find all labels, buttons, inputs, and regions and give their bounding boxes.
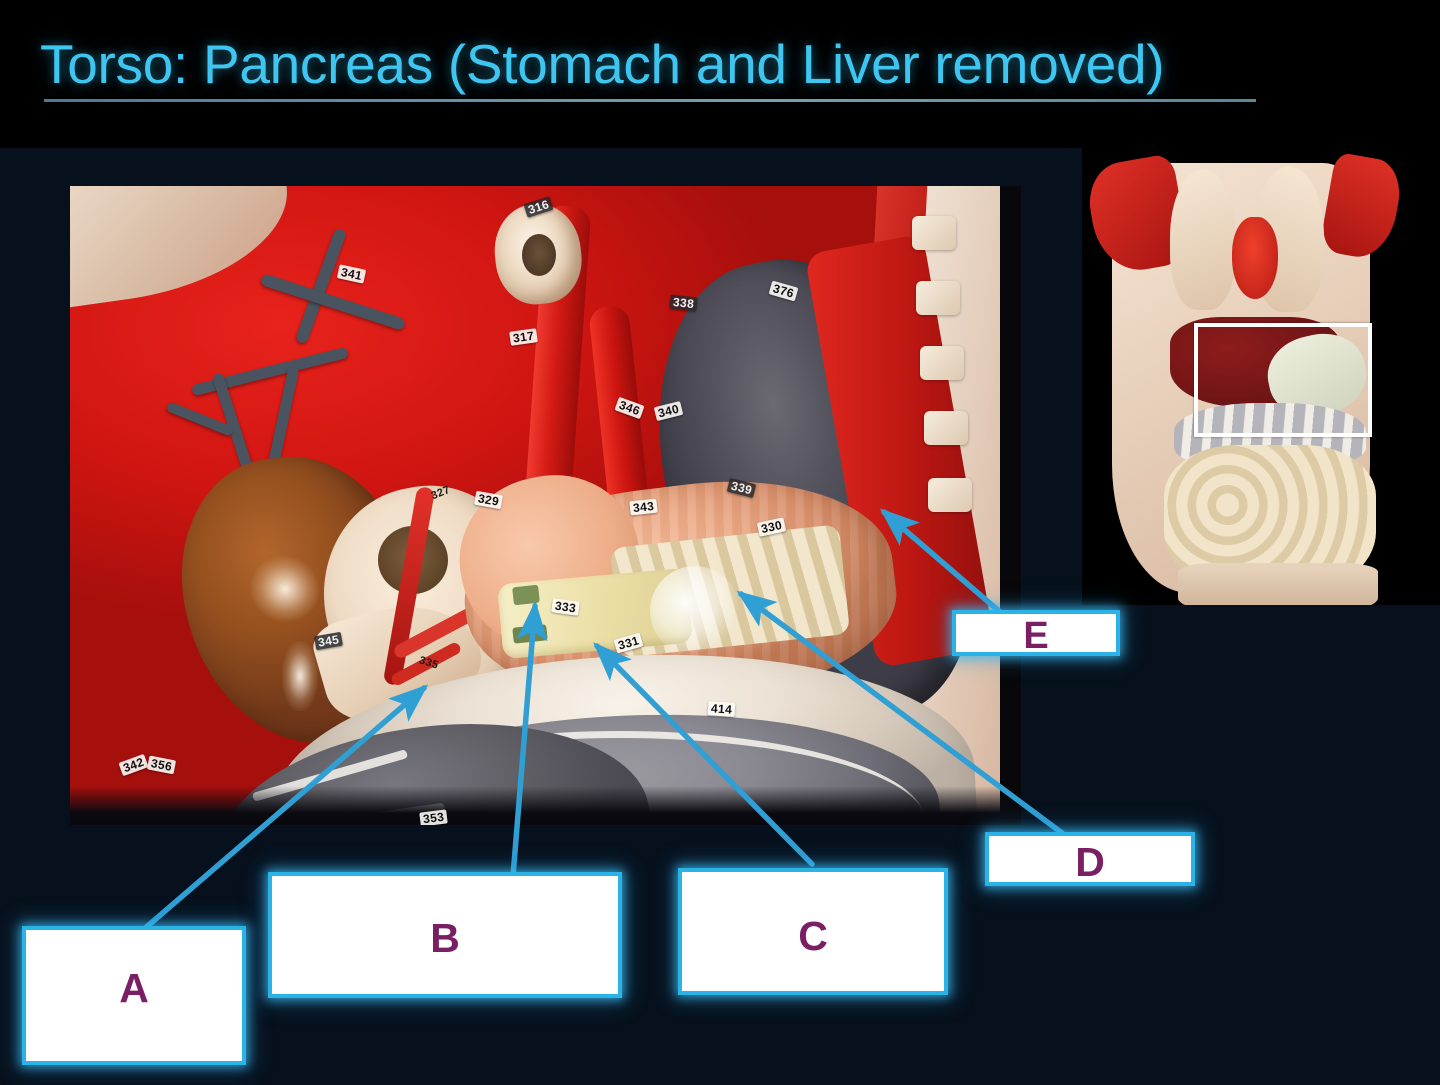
thumb-lung-left — [1170, 170, 1236, 310]
model-number-tag: 343 — [629, 499, 658, 516]
torso-overview-thumbnail — [1082, 145, 1440, 605]
answer-label-letter-d: D — [1075, 842, 1105, 883]
esophagus-lumen — [522, 234, 556, 276]
answer-label-letter-b: B — [430, 918, 460, 959]
photo-black-margin-right — [1000, 186, 1021, 825]
vertebral-body — [924, 411, 968, 445]
photo-black-margin-bottom — [70, 786, 1021, 825]
answer-label-letter-c: C — [798, 916, 828, 957]
model-number-tag: 414 — [708, 701, 736, 717]
specular-highlight — [282, 641, 318, 711]
vertebral-body — [920, 346, 964, 380]
vertebral-body — [916, 281, 960, 315]
vertebral-body — [928, 478, 972, 512]
pancreatic-duct-branch — [650, 566, 740, 656]
answer-label-box-b[interactable]: B — [268, 872, 622, 998]
answer-label-box-d[interactable]: D — [985, 832, 1195, 886]
thumb-region-highlight-box — [1194, 323, 1372, 437]
answer-label-letter-e: E — [1023, 617, 1048, 655]
vertebral-body — [912, 216, 956, 250]
answer-label-letter-a: A — [119, 968, 149, 1009]
model-number-tag: 353 — [419, 809, 448, 825]
thumb-pelvic-region — [1178, 563, 1378, 605]
answer-label-box-c[interactable]: C — [678, 868, 948, 995]
answer-label-box-e[interactable]: E — [952, 610, 1120, 656]
thumb-heart — [1232, 217, 1278, 299]
answer-label-box-a[interactable]: A — [22, 926, 246, 1065]
islet-marker — [512, 585, 540, 606]
title-underline-rule — [44, 99, 1256, 102]
slide-title-container: Torso: Pancreas (Stomach and Liver remov… — [40, 33, 1270, 105]
model-number-tag: 338 — [669, 295, 698, 312]
main-anatomy-photo: 3163413173463403383763273293433393303333… — [70, 186, 1021, 825]
page-title: Torso: Pancreas (Stomach and Liver remov… — [40, 33, 1270, 95]
